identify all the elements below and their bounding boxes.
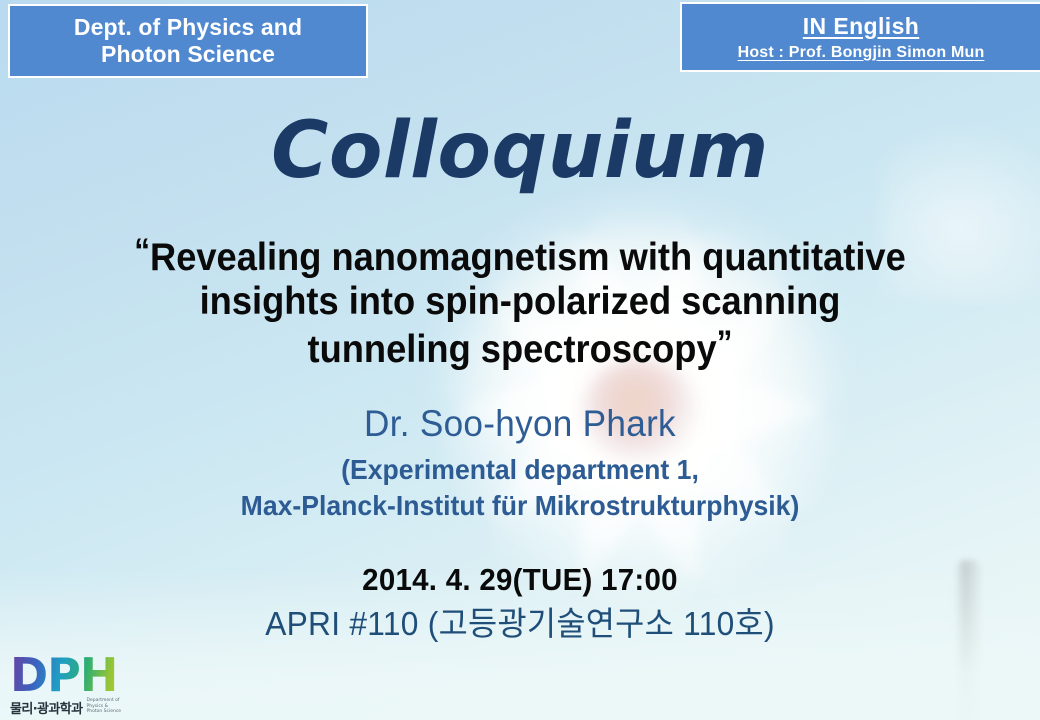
talk-title-line-2: insights into spin-polarized scanning: [48, 280, 993, 324]
talk-title-text-1: Revealing nanomagnetism with quantitativ…: [150, 236, 906, 279]
talk-title-line-3: tunneling spectroscopy”: [48, 324, 993, 372]
dph-logo-english-line-1: Department of: [87, 698, 120, 703]
close-quote: ”: [717, 324, 733, 362]
talk-title: “Revealing nanomagnetism with quantitati…: [48, 232, 993, 372]
event-datetime: 2014. 4. 29(TUE) 17:00: [26, 563, 1014, 597]
speaker-name: Dr. Soo-hyon Phark: [26, 404, 1014, 445]
dph-logo-korean: 물리·광과학과: [10, 703, 83, 716]
talk-title-text-3: tunneling spectroscopy: [308, 328, 717, 371]
dph-logo-english-line-3: Photon Science: [87, 709, 122, 714]
open-quote: “: [134, 232, 150, 270]
talk-title-line-1: “Revealing nanomagnetism with quantitati…: [48, 232, 993, 280]
event-location: APRI #110 (고등광기술연구소 110호): [21, 606, 1019, 642]
speaker-affiliation: (Experimental department 1, Max-Planck-I…: [26, 452, 1014, 524]
dph-logo: DPH 물리·광과학과 Department of Physics & Phot…: [10, 652, 130, 714]
dph-logo-english: Department of Physics & Photon Science: [87, 698, 122, 715]
colloquium-poster: Dept. of Physics and Photon Science IN E…: [0, 0, 1040, 720]
affiliation-line-1: (Experimental department 1,: [26, 452, 1014, 488]
dph-logo-english-line-2: Physics &: [87, 704, 109, 709]
affiliation-line-2: Max-Planck-Institut für Mikrostrukturphy…: [26, 488, 1014, 524]
dph-logo-subtitle: 물리·광과학과 Department of Physics & Photon S…: [10, 699, 130, 716]
poster-content: Colloquium “Revealing nanomagnetism with…: [0, 0, 1040, 720]
dph-wordmark: DPH: [10, 652, 130, 698]
event-type-heading: Colloquium: [0, 112, 1040, 190]
